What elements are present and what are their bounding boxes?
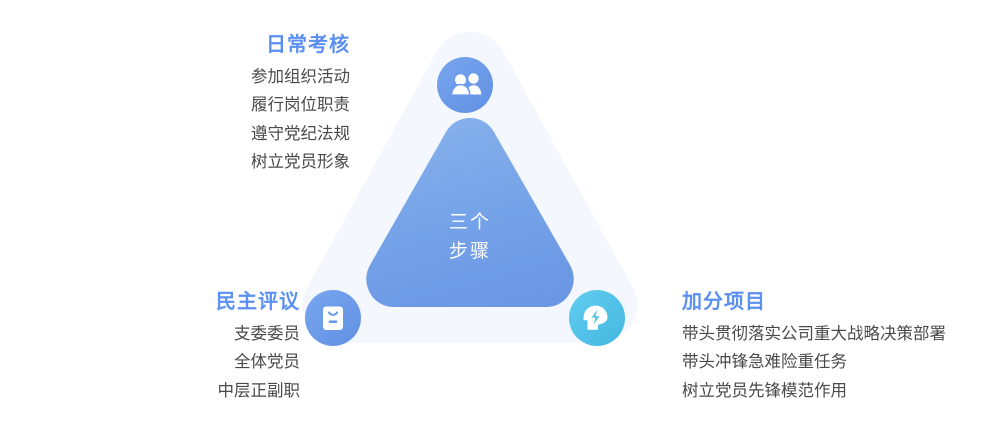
list-item: 全体党员 [0,348,300,376]
democratic-review-heading: 民主评议 [0,287,300,317]
list-item: 树立党员先锋模范作用 [682,377,1000,405]
list-item: 中层正副职 [0,377,300,405]
ballot-box-icon [323,307,343,331]
node-bottom-right-innovation[interactable] [569,290,625,346]
node-top-users[interactable] [437,57,493,113]
list-item: 支委委员 [0,320,300,348]
list-item: 带头冲锋急难险重任务 [682,348,1000,376]
bonus-items-heading: 加分项目 [682,287,1000,317]
triangle-diagram: 三个 步骤 [280,14,660,386]
bonus-items-list: 带头贯彻落实公司重大战略决策部署 带头冲锋急难险重任务 树立党员先锋模范作用 [682,320,1000,405]
list-item: 带头贯彻落实公司重大战略决策部署 [682,320,1000,348]
bonus-items-block: 加分项目 带头贯彻落实公司重大战略决策部署 带头冲锋急难险重任务 树立党员先锋模… [682,287,1000,405]
democratic-review-block: 民主评议 支委委员 全体党员 中层正副职 [0,287,300,405]
democratic-review-list: 支委委员 全体党员 中层正副职 [0,320,300,405]
node-bottom-left-ballot[interactable] [305,290,361,346]
